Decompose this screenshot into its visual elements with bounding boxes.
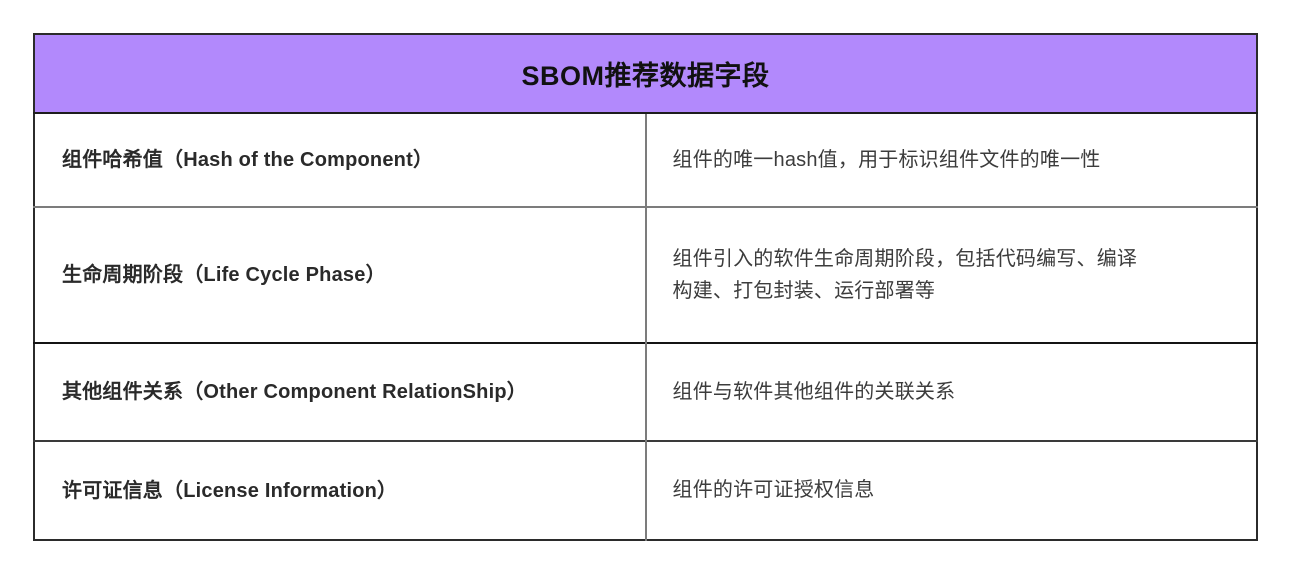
description-line: 构建、打包封装、运行部署等: [673, 275, 1227, 307]
table-body: 组件哈希值（Hash of the Component） 组件的唯一hash值，…: [34, 113, 1257, 540]
table-header-row: SBOM推荐数据字段: [34, 34, 1257, 113]
page-root: SBOM推荐数据字段 组件哈希值（Hash of the Component） …: [0, 0, 1290, 578]
field-name-cell: 组件哈希值（Hash of the Component）: [34, 113, 646, 207]
description-line: 组件的许可证授权信息: [673, 474, 1227, 506]
description-line: 组件与软件其他组件的关联关系: [673, 376, 1227, 408]
field-name-cell: 生命周期阶段（Life Cycle Phase）: [34, 207, 646, 343]
field-description-cell: 组件与软件其他组件的关联关系: [646, 343, 1258, 441]
field-description-cell: 组件的唯一hash值，用于标识组件文件的唯一性: [646, 113, 1258, 207]
table-row: 生命周期阶段（Life Cycle Phase） 组件引入的软件生命周期阶段，包…: [34, 207, 1257, 343]
table-title: SBOM推荐数据字段: [34, 34, 1257, 113]
table-row: 其他组件关系（Other Component RelationShip） 组件与…: [34, 343, 1257, 441]
field-description-cell: 组件引入的软件生命周期阶段，包括代码编写、编译 构建、打包封装、运行部署等: [646, 207, 1258, 343]
field-name-cell: 其他组件关系（Other Component RelationShip）: [34, 343, 646, 441]
table-row: 许可证信息（License Information） 组件的许可证授权信息: [34, 441, 1257, 540]
sbom-recommended-fields-table: SBOM推荐数据字段 组件哈希值（Hash of the Component） …: [33, 33, 1258, 541]
description-line: 组件的唯一hash值，用于标识组件文件的唯一性: [673, 144, 1227, 176]
field-description-cell: 组件的许可证授权信息: [646, 441, 1258, 540]
field-name-cell: 许可证信息（License Information）: [34, 441, 646, 540]
table-row: 组件哈希值（Hash of the Component） 组件的唯一hash值，…: [34, 113, 1257, 207]
table-header: SBOM推荐数据字段: [34, 34, 1257, 113]
description-line: 组件引入的软件生命周期阶段，包括代码编写、编译: [673, 243, 1227, 275]
